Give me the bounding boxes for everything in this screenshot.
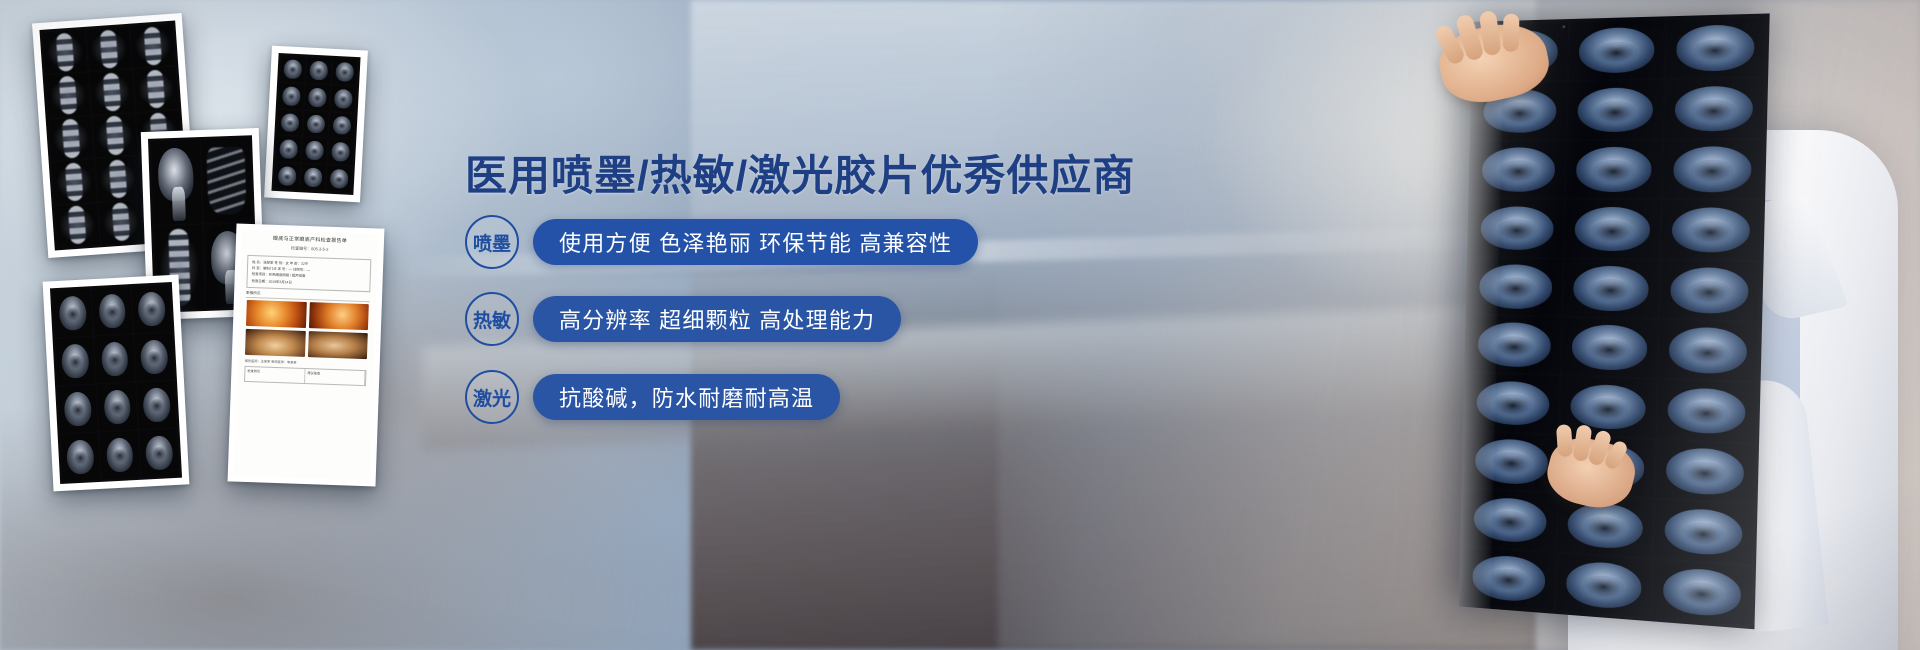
- medical-film-banner: 眼底与正常眼底产科检查报告单 检查编号：005-3-5-3 姓 名：张某某 性 …: [0, 0, 1920, 650]
- feature-pill-thermal[interactable]: 高分辨率 超细颗粒 高处理能力: [533, 296, 901, 342]
- badge-laser[interactable]: 激光: [465, 370, 519, 424]
- badge-thermal[interactable]: 热敏: [465, 292, 519, 346]
- banner-content: 医用喷墨/热敏/激光胶片优秀供应商 喷墨 使用方便 色泽艳丽 环保节能 高兼容性…: [460, 0, 1100, 650]
- feature-pill-laser[interactable]: 抗酸碱，防水耐磨耐高温: [533, 374, 840, 420]
- page-title: 医用喷墨/热敏/激光胶片优秀供应商: [465, 142, 1135, 203]
- feature-row-laser: 激光 抗酸碱，防水耐磨耐高温: [465, 370, 840, 424]
- feature-pill-inkjet[interactable]: 使用方便 色泽艳丽 环保节能 高兼容性: [533, 219, 978, 265]
- badge-inkjet[interactable]: 喷墨: [465, 215, 519, 269]
- feature-row-inkjet: 喷墨 使用方便 色泽艳丽 环保节能 高兼容性: [465, 215, 978, 269]
- feature-row-thermal: 热敏 高分辨率 超细颗粒 高处理能力: [465, 292, 901, 346]
